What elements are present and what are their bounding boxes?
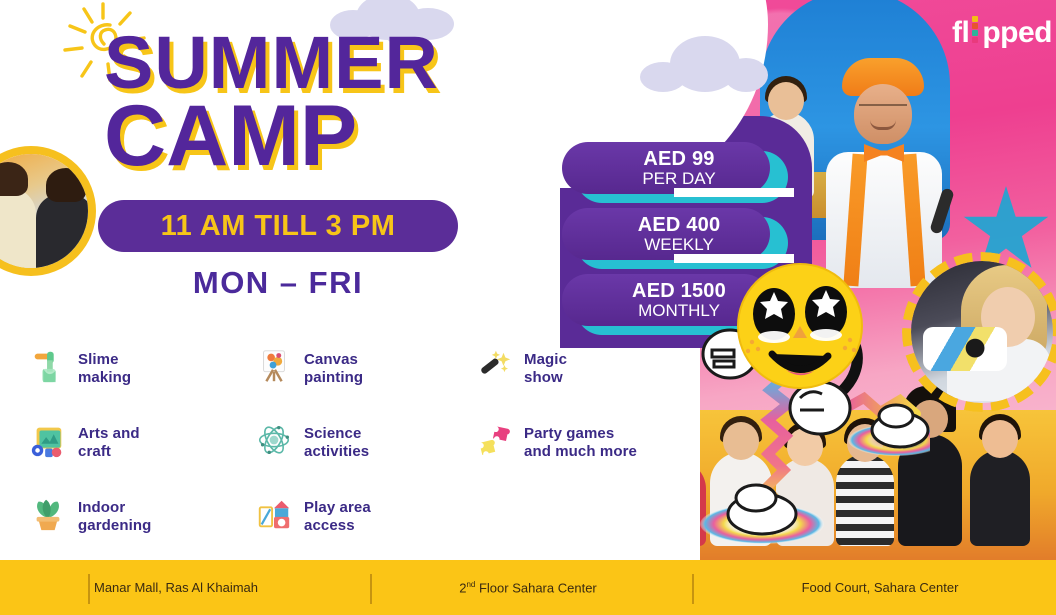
activities-column-2: Canvas painting xyxy=(254,346,469,568)
title-line-camp: CAMP xyxy=(104,99,439,175)
activity-label: Canvas painting xyxy=(304,346,363,386)
location-text: Manar Mall, Ras Al Khaimah xyxy=(94,580,258,595)
photo-child xyxy=(970,450,1030,546)
child-head xyxy=(768,82,804,120)
logo-text-part2: pped xyxy=(982,16,1052,50)
price-period: PER DAY xyxy=(642,170,715,187)
arts-craft-icon xyxy=(28,420,68,460)
activity-label: Science activities xyxy=(304,420,369,460)
price-amount: AED 99 xyxy=(643,149,714,169)
activity-label-line1: Play area xyxy=(304,499,371,516)
activity-item: Canvas painting xyxy=(254,346,469,391)
activity-label-line1: Magic xyxy=(524,351,567,368)
activity-label-line2: craft xyxy=(78,443,111,460)
photo-content xyxy=(0,154,88,268)
activity-item: Play area access xyxy=(254,494,469,539)
activity-item: Magic show xyxy=(474,346,689,391)
playground-icon xyxy=(254,494,294,534)
schedule-time-text: 11 AM TILL 3 PM xyxy=(161,210,396,243)
activity-label-line1: Canvas xyxy=(304,351,358,368)
activity-label-line2: painting xyxy=(304,369,363,386)
activities-column-1: Slime making Art xyxy=(28,346,243,568)
footer-divider xyxy=(692,574,694,604)
entertainer-glasses xyxy=(859,104,907,114)
child-head xyxy=(982,420,1018,458)
schedule-days-text: MON – FRI xyxy=(98,265,458,301)
footer-divider xyxy=(88,574,90,604)
schedule-time-pill: 11 AM TILL 3 PM xyxy=(98,200,458,252)
activity-label-line1: Arts and xyxy=(78,425,140,442)
activity-label-line2: activities xyxy=(304,443,369,460)
photo-child xyxy=(0,188,36,276)
potted-plant-icon xyxy=(28,494,68,534)
activity-label: Magic show xyxy=(524,346,567,386)
activity-label-line2: making xyxy=(78,369,131,386)
badge-white-strip xyxy=(674,188,794,197)
activity-item: Science activities xyxy=(254,420,469,465)
atom-icon xyxy=(254,420,294,460)
summer-camp-poster: fl pped xyxy=(0,0,1056,615)
price-badge-daily[interactable]: AED 99 PER DAY xyxy=(562,142,770,194)
activity-label-line1: Indoor xyxy=(78,499,125,516)
activity-label-line2: gardening xyxy=(78,517,151,534)
children-crafting-photo xyxy=(0,146,96,276)
entertainer-figure xyxy=(808,58,958,288)
activity-label-line1: Science xyxy=(304,425,361,442)
slime-bottle-icon xyxy=(28,346,68,386)
puzzle-pieces-icon xyxy=(474,420,514,460)
cloud-icon xyxy=(640,36,770,98)
flipped-logo[interactable]: fl pped xyxy=(952,12,1052,50)
activity-label: Indoor gardening xyxy=(78,494,151,534)
activity-label-line2: show xyxy=(524,369,563,386)
activity-item: Party games and much more xyxy=(474,420,689,465)
smiley-mascot-icon xyxy=(700,258,930,548)
location-text: Floor Sahara Center xyxy=(475,580,596,595)
magic-wand-icon xyxy=(474,346,514,386)
activity-label-line2: access xyxy=(304,517,355,534)
activity-item: Arts and craft xyxy=(28,420,243,465)
price-amount: AED 400 xyxy=(638,215,721,235)
page-title: SUMMER CAMP xyxy=(104,30,439,175)
price-badge-weekly[interactable]: AED 400 WEEKLY xyxy=(562,208,770,260)
location-item-manar-mall[interactable]: Manar Mall, Ras Al Khaimah xyxy=(0,580,352,595)
activity-label-line1: Party games xyxy=(524,425,614,442)
activity-label: Arts and craft xyxy=(78,420,140,460)
activity-label-line2: and much more xyxy=(524,443,637,460)
logo-dots-icon xyxy=(969,12,982,42)
location-item-food-court[interactable]: Food Court, Sahara Center xyxy=(704,580,1056,595)
price-badge-row: AED 99 PER DAY xyxy=(562,142,772,194)
entertainer-head xyxy=(854,84,912,144)
activity-item: Slime making xyxy=(28,346,243,391)
activity-item: Indoor gardening xyxy=(28,494,243,539)
price-period: WEEKLY xyxy=(644,236,714,253)
easel-palette-icon xyxy=(254,346,294,386)
activity-label: Slime making xyxy=(78,346,131,386)
footer-divider xyxy=(370,574,372,604)
locations-footer: Manar Mall, Ras Al Khaimah 2nd Floor Sah… xyxy=(0,560,1056,615)
logo-text-part1: fl xyxy=(952,16,969,50)
activities-column-3: Magic show Party games and much more xyxy=(474,346,689,494)
location-item-sahara-2nd-floor[interactable]: 2nd Floor Sahara Center xyxy=(352,580,704,595)
location-text: Food Court, Sahara Center xyxy=(802,580,959,595)
price-badge-row: AED 400 WEEKLY xyxy=(562,208,772,260)
activity-label: Party games and much more xyxy=(524,420,637,460)
title-line-summer: SUMMER xyxy=(104,30,439,95)
activity-label: Play area access xyxy=(304,494,371,534)
activity-label-line1: Slime xyxy=(78,351,119,368)
photo-child xyxy=(36,194,94,276)
